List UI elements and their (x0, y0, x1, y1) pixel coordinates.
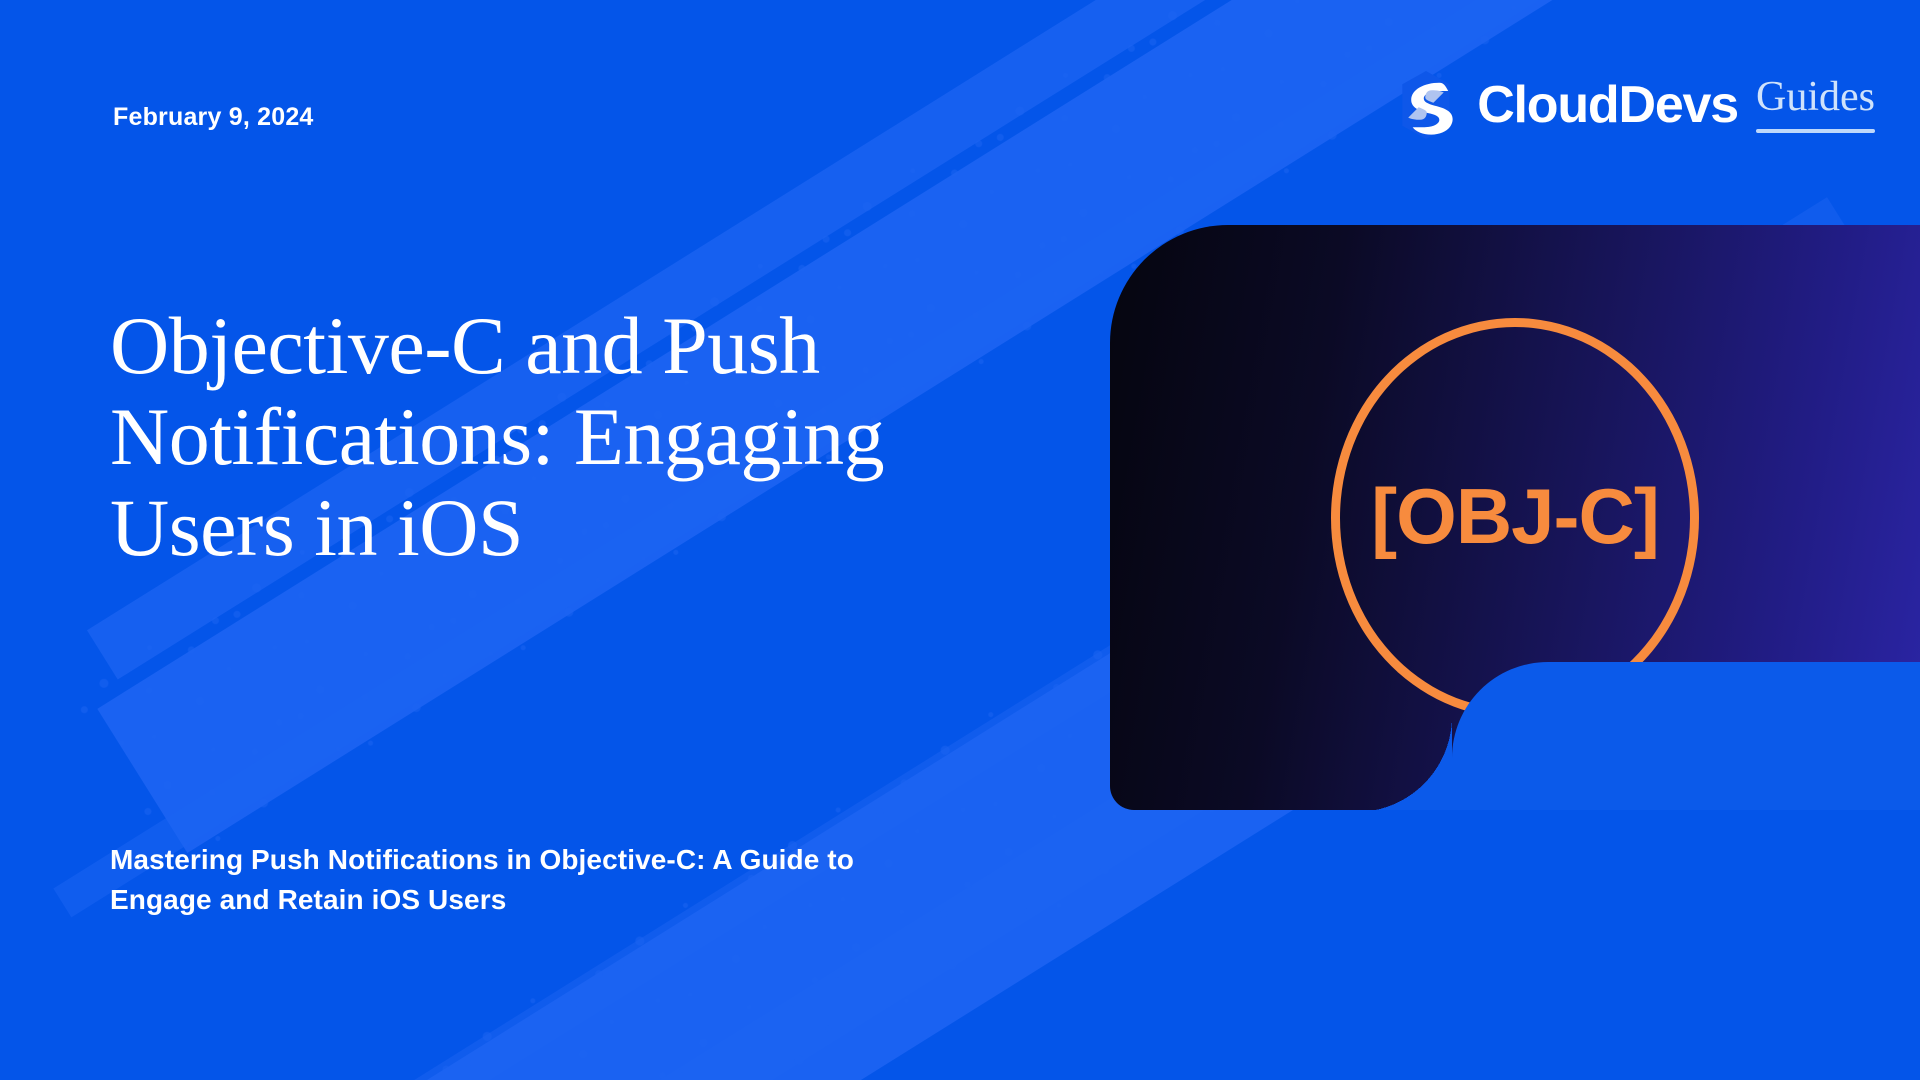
brand-lockup[interactable]: CloudDevs Guides (1389, 68, 1875, 142)
brand-underline-rule (1756, 129, 1875, 133)
objc-hero-card: [OBJ-C] (1110, 225, 1920, 810)
slide-canvas: February 9, 2024 CloudDevs Guides Object… (0, 0, 1920, 1080)
page-title-line-2: Notifications: Engaging (110, 391, 884, 482)
page-title-line-3: Users in iOS (110, 482, 523, 573)
page-title-line-1: Objective-C and Push (110, 300, 820, 391)
card-corner-notch (1452, 662, 1920, 810)
objc-badge-label: [OBJ-C] (1371, 477, 1659, 555)
publish-date: February 9, 2024 (113, 103, 314, 132)
brand-sub-label-wrap: Guides (1756, 76, 1875, 135)
page-subtitle: Mastering Push Notifications in Objectiv… (110, 840, 890, 920)
brand-sub-label: Guides (1756, 76, 1875, 118)
clouddevs-logo-icon (1389, 68, 1463, 142)
brand-name: CloudDevs (1477, 79, 1738, 131)
page-title: Objective-C and Push Notifications: Enga… (110, 300, 1120, 573)
circle-outline-icon: [OBJ-C] (1331, 318, 1699, 718)
